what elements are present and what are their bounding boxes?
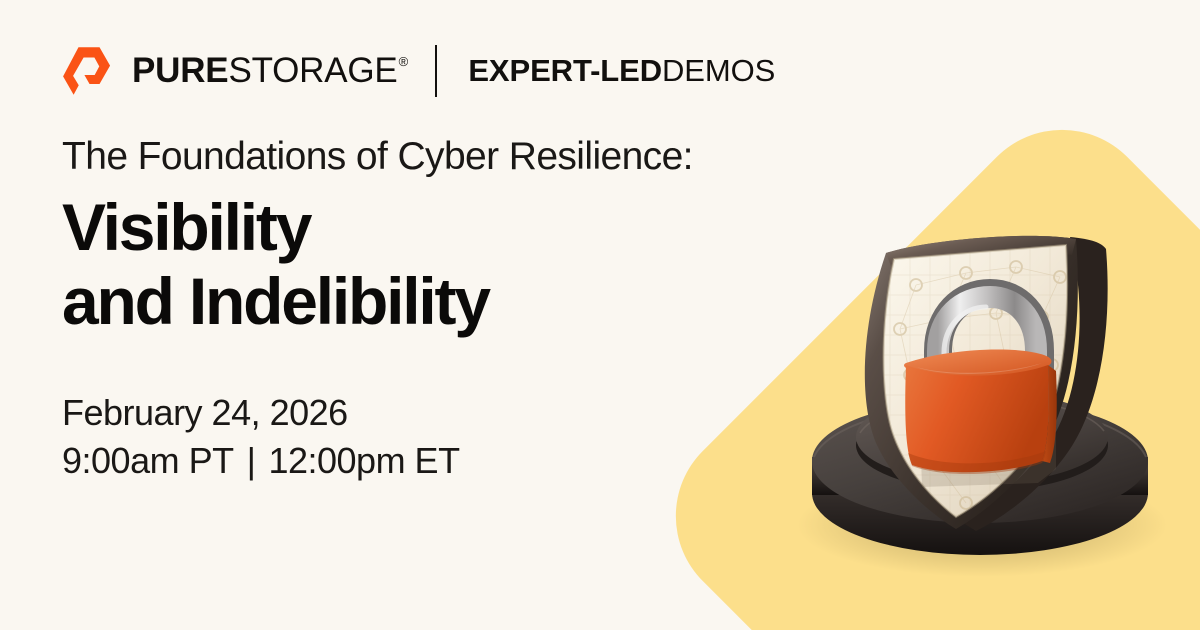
series-light: DEMOS: [662, 53, 775, 89]
page-title: Visibility and Indelibility: [62, 191, 762, 339]
headline-block: The Foundations of Cyber Resilience: Vis…: [62, 135, 762, 338]
pure-storage-wordmark: PURESTORAGE®: [132, 51, 407, 91]
promo-banner: PURESTORAGE® EXPERT-LEDDEMOS The Foundat…: [0, 0, 1200, 630]
shield-with-padlock-illustration: [770, 225, 1190, 585]
registered-trademark-icon: ®: [399, 54, 409, 69]
series-wordmark: EXPERT-LEDDEMOS: [468, 53, 775, 89]
wordmark-light: STORAGE: [228, 51, 397, 91]
event-time: 9:00am PT|12:00pm ET: [62, 437, 460, 485]
title-line-1: Visibility: [62, 191, 762, 265]
event-date: February 24, 2026: [62, 389, 460, 437]
eyebrow-text: The Foundations of Cyber Resilience:: [62, 135, 762, 179]
event-time-et: 12:00pm ET: [268, 440, 459, 481]
wordmark-bold: PURE: [132, 51, 228, 91]
brand-lockup: PURESTORAGE® EXPERT-LEDDEMOS: [62, 44, 775, 98]
lockup-divider: [435, 45, 437, 97]
event-datetime: February 24, 2026 9:00am PT|12:00pm ET: [62, 389, 460, 484]
series-bold: EXPERT-LED: [468, 53, 662, 89]
title-line-2: and Indelibility: [62, 265, 762, 339]
pure-storage-p-logo-icon: [62, 44, 116, 98]
event-time-pt: 9:00am PT: [62, 440, 234, 481]
time-separator: |: [234, 437, 269, 485]
